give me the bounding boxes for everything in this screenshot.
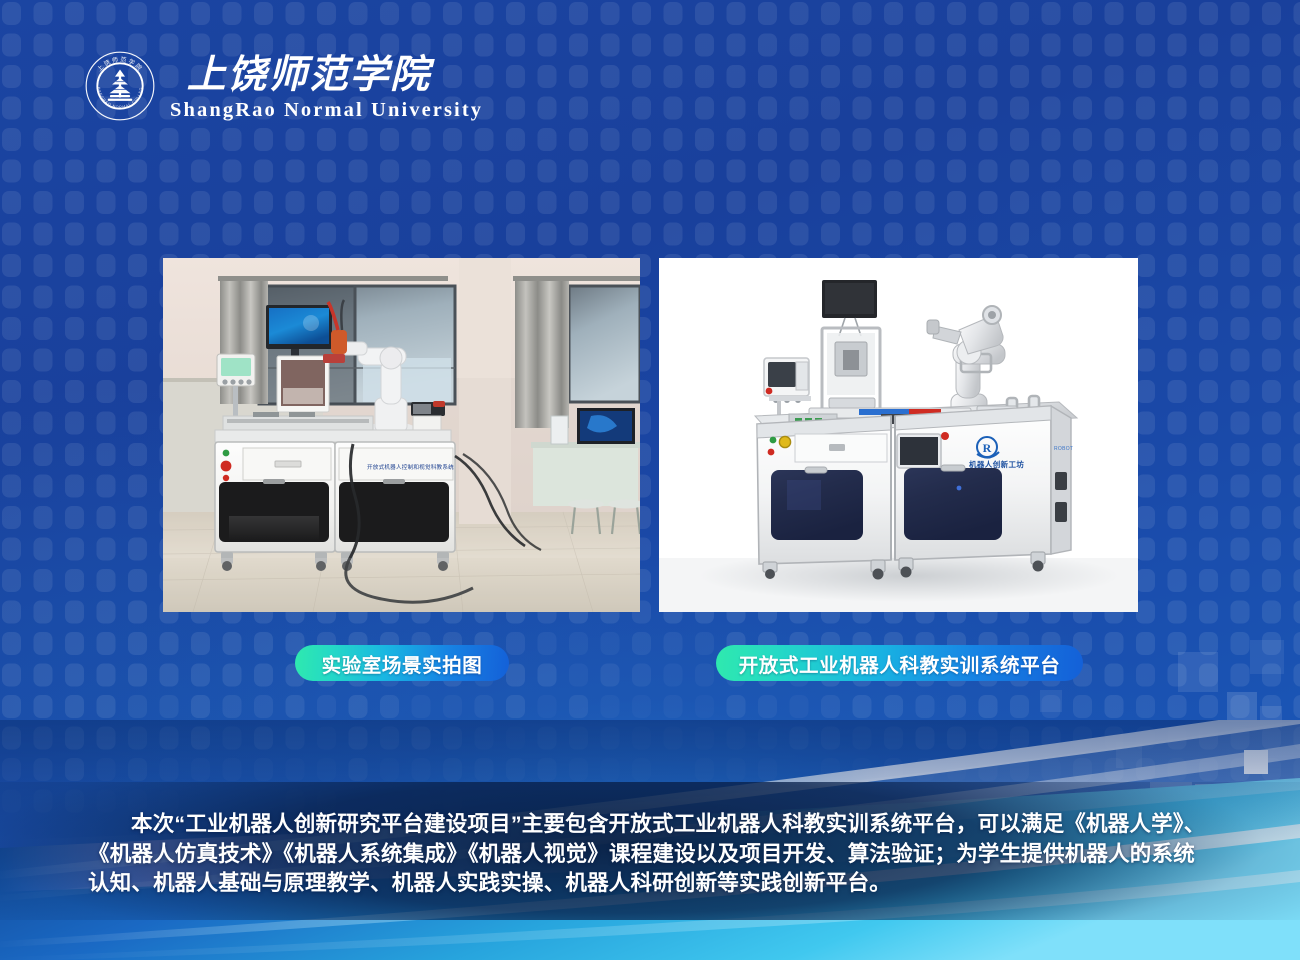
paragraph-line-3: 认知、机器人基础与原理教学、机器人实践实操、机器人科研创新等实践创新平台。: [88, 869, 1212, 899]
svg-text:ROBOT: ROBOT: [1054, 446, 1073, 452]
university-name-cn: 上饶师范学院: [170, 52, 492, 98]
university-logo: 上饶师范学院 SHANGRAO NORMAL COLLEGE: [84, 50, 492, 122]
platform-render-photo[interactable]: R 机器人创新工坊 ROBOT: [659, 258, 1138, 612]
paragraph-line-2: 《机器人仿真技术》《机器人系统集成》《机器人视觉》课程建设以及项目开发、算法验证…: [88, 840, 1212, 870]
lab-photo[interactable]: 开放式机器人控制和视觉科教系统: [163, 258, 640, 612]
svg-text:R: R: [983, 441, 992, 455]
paragraph-line-1: 本次“工业机器人创新研究平台建设项目”主要包含开放式工业机器人科教实训系统平台，…: [88, 810, 1212, 840]
svg-text:开放式机器人控制和视觉科教系统: 开放式机器人控制和视觉科教系统: [367, 463, 454, 471]
caption-pill-lab-photo[interactable]: 实验室场景实拍图: [295, 645, 509, 681]
svg-text:上饶师范学院: 上饶师范学院: [187, 53, 435, 96]
description-paragraph: 本次“工业机器人创新研究平台建设项目”主要包含开放式工业机器人科教实训系统平台，…: [88, 810, 1212, 899]
paragraph-line-1-text: 本次“工业机器人创新研究平台建设项目”主要包含开放式工业机器人科教实训系统平台，…: [131, 812, 1205, 836]
presentation-slide: 上饶师范学院 SHANGRAO NORMAL COLLEGE: [0, 0, 1300, 960]
caption-pill-platform[interactable]: 开放式工业机器人科教实训系统平台: [716, 645, 1083, 681]
university-seal-icon: 上饶师范学院 SHANGRAO NORMAL COLLEGE: [84, 50, 156, 122]
university-name-en: ShangRao Normal University: [170, 100, 492, 121]
svg-text:机器人创新工坊: 机器人创新工坊: [969, 459, 1024, 469]
